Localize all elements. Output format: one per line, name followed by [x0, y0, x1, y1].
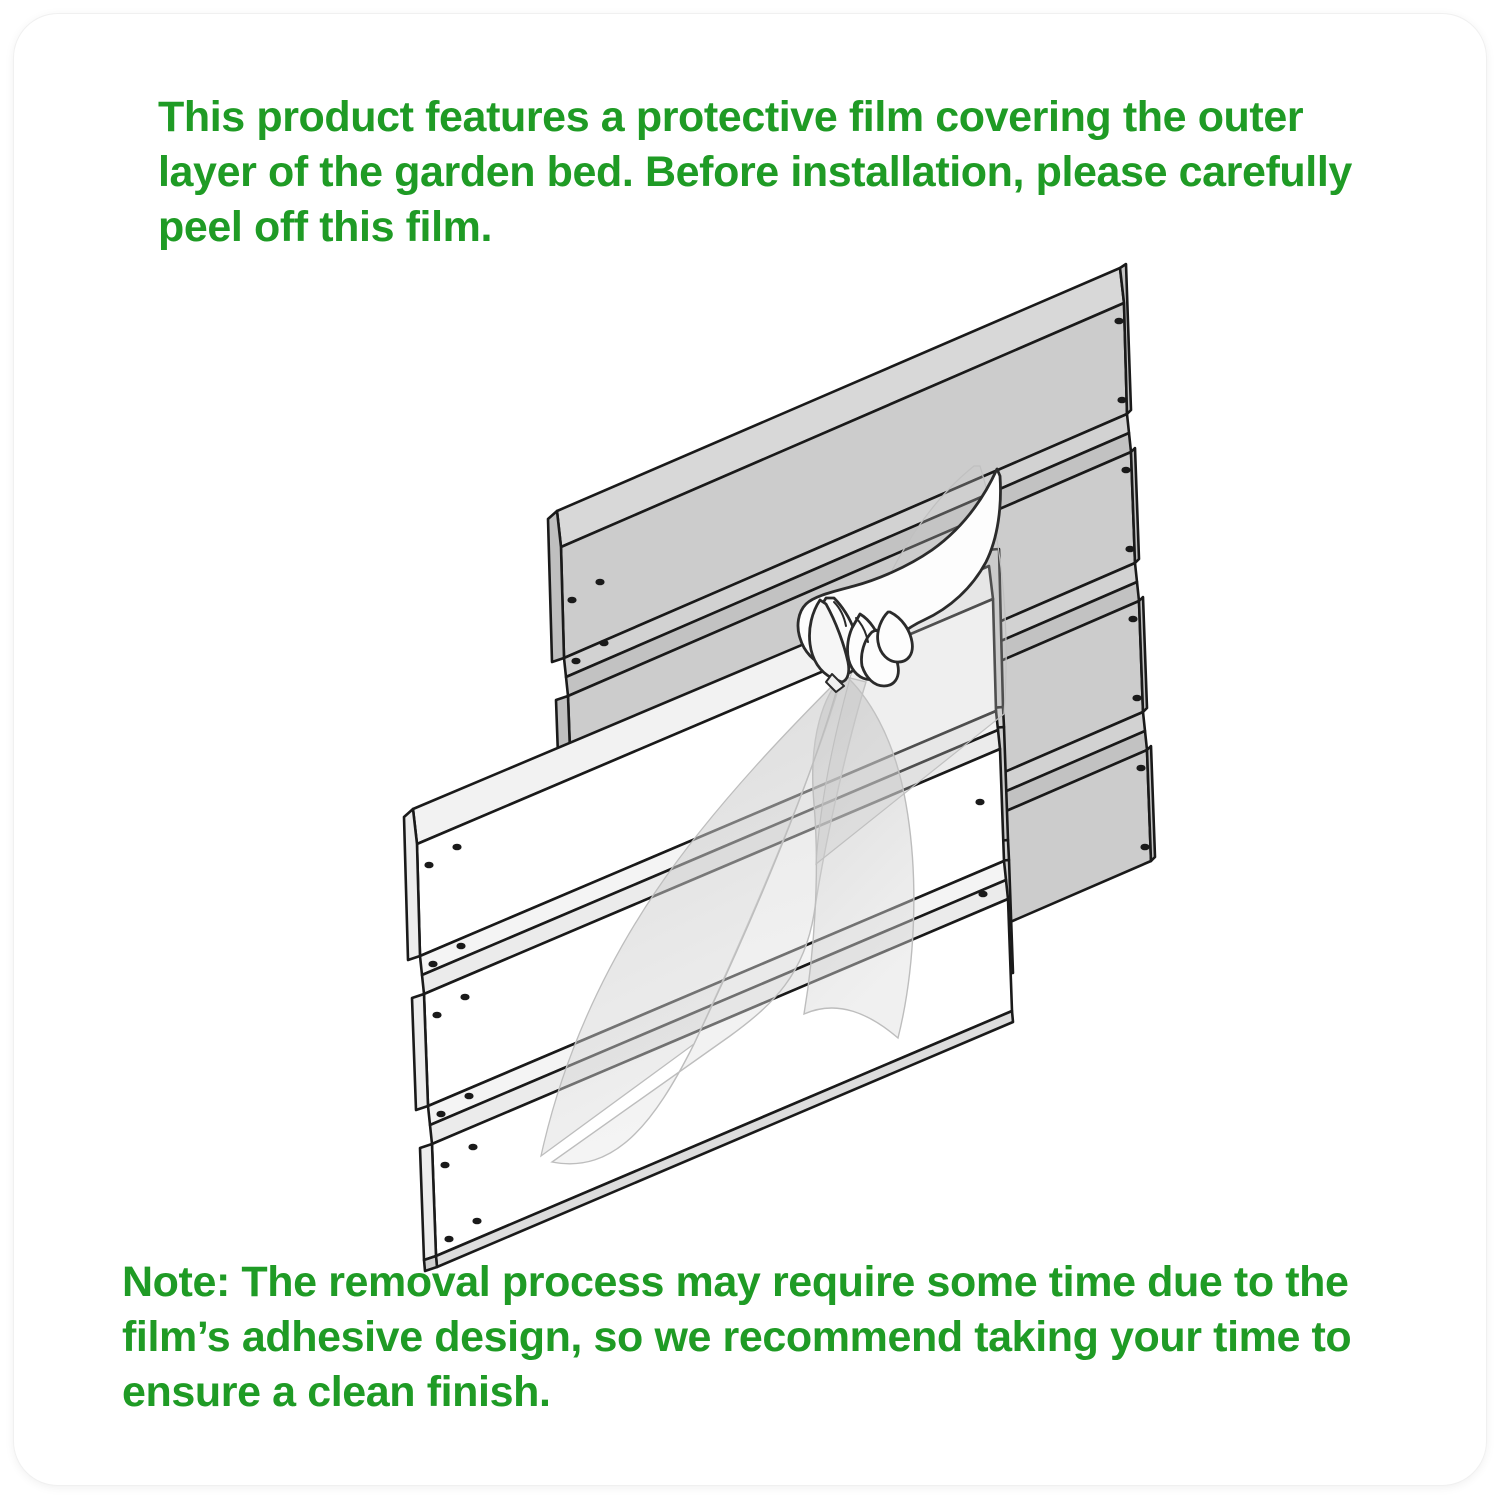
upper-panel-band-4 — [584, 746, 1155, 1105]
lower-panel-band-2 — [412, 749, 1004, 1110]
upper-panel-rib-1 — [564, 414, 1131, 696]
lower-panel-screw-holes — [424, 799, 987, 1243]
lower-panel-rib-1 — [420, 711, 1000, 994]
upper-panel-band-2 — [556, 448, 1139, 811]
protective-film-sheet — [541, 466, 1006, 1164]
lower-panel-assembly — [404, 566, 1013, 1271]
note-text: Note: The removal process may require so… — [122, 1255, 1412, 1420]
upper-panel-band-3 — [564, 597, 1147, 960]
lower-panel-bottom-lip — [424, 1011, 1013, 1271]
lower-panel-band-1 — [404, 566, 996, 960]
upper-panel-rib-3 — [580, 712, 1147, 994]
upper-panel-screw-holes — [567, 318, 1149, 851]
upper-panel-rib-2 — [572, 563, 1139, 845]
upper-panel-band-1 — [548, 264, 1131, 662]
mid-panel-assembly — [934, 549, 1013, 979]
headline-text: This product features a protective film … — [158, 90, 1368, 255]
peeling-hand — [798, 469, 1000, 692]
mid-panel-screw-holes — [981, 589, 999, 911]
lower-panel-band-3 — [420, 899, 1012, 1260]
lower-panel-rib-2 — [428, 861, 1008, 1144]
instruction-card: This product features a protective film … — [14, 14, 1486, 1485]
upper-panel-assembly — [548, 264, 1155, 1105]
